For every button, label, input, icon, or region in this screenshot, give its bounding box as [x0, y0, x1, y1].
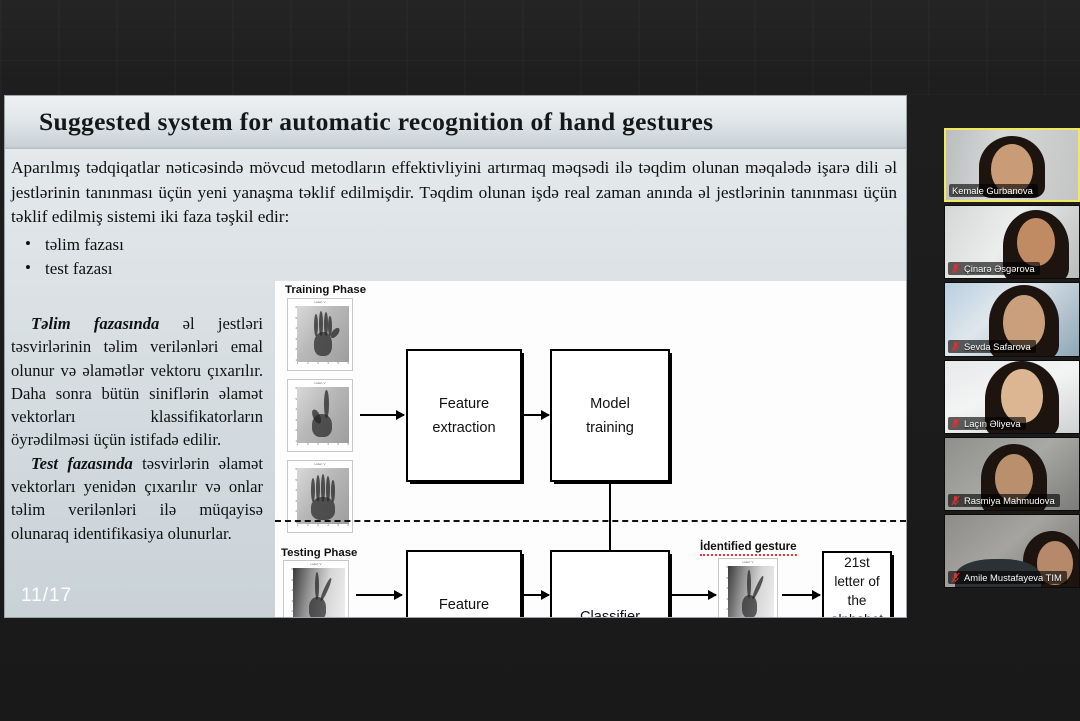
arrow-training-to-feature-extraction [360, 414, 404, 416]
paragraph-test-phase: Test fazasında təsvirlərin əlamət vektor… [11, 452, 263, 545]
video-conference-window: Suggested system for automatic recogniti… [0, 0, 1080, 721]
thumbnail-y-axis: 654321 [289, 387, 297, 443]
identified-gesture-label: İdentified gesture [700, 540, 797, 556]
paragraph-training-phase: Təlim fazasında əl jestləri təsvirlərini… [11, 312, 263, 452]
participant-name: Amile Mustafayeva TIM [964, 572, 1062, 583]
avatar-face [1001, 369, 1043, 423]
hand-image-v-sign [293, 568, 345, 617]
hand-image-v-sign-result [728, 566, 774, 617]
participant-tile-1[interactable]: Kemale Gurbanova [944, 128, 1080, 202]
participant-name-badge-3: Sevda Safarova [948, 340, 1036, 353]
box-feature-extraction-testing: Featureextraction [406, 550, 522, 617]
thumbnail-y-axis: 654321 [720, 566, 728, 617]
testing-thumbnail: Label: V 654321 123456 [283, 560, 349, 617]
training-thumbnail-1: Label: V 654321 123456 [287, 298, 353, 371]
participant-name: Rasmiya Mahmudova [964, 495, 1055, 506]
paragraph-lead-test: Test fazasında [31, 454, 133, 473]
mute-icon [951, 418, 960, 429]
participant-name: Kemale Gurbanova [952, 185, 1033, 196]
list-item: təlim fazası [19, 233, 269, 257]
avatar-face [1017, 218, 1055, 266]
box-result-letter: 21st letter of the alphabet (V) [822, 551, 892, 617]
thumbnail-y-axis: 654321 [289, 306, 297, 362]
result-line-2: letter of [834, 572, 879, 591]
participant-name-badge-2: Çinarə Əsgərova [948, 262, 1040, 275]
thumbnail-x-axis: 123456 [297, 443, 349, 451]
mute-icon [951, 572, 960, 583]
slide-title-bar: Suggested system for automatic recogniti… [5, 96, 906, 149]
box-label: Classifier [580, 605, 640, 617]
slide-intro-paragraph: Aparılmış tədqiqatlar nəticəsində mövcud… [11, 156, 897, 230]
box-label: Featureextraction [432, 392, 495, 440]
mute-icon [951, 495, 960, 506]
participant-tile-6[interactable]: Amile Mustafayeva TIM [944, 514, 1080, 588]
thumbnail-x-axis: 123456 [297, 524, 349, 532]
participant-tile-4[interactable]: Laçın Əliyeva [944, 360, 1080, 434]
result-line-3: the [848, 591, 867, 610]
participant-tile-5[interactable]: Rasmiya Mahmudova [944, 437, 1080, 511]
slide-bullet-list: təlim fazası test fazası [19, 233, 269, 281]
participant-name: Sevda Safarova [964, 341, 1031, 352]
box-label: Modeltraining [586, 392, 634, 440]
arrow-classifier-to-identified-gesture [671, 594, 716, 596]
list-item: test fazası [19, 257, 269, 281]
mute-icon [951, 341, 960, 352]
slide-page-number: 11/17 [21, 585, 72, 607]
testing-phase-label: Testing Phase [281, 547, 357, 559]
hand-image-fist-thumb [297, 387, 349, 443]
box-model-training: Modeltraining [550, 349, 670, 482]
hand-image-open-palm [297, 306, 349, 362]
participant-filmstrip[interactable]: Kemale Gurbanova Çinarə Əsgərova [944, 128, 1080, 588]
participant-name-badge-4: Laçın Əliyeva [948, 417, 1026, 430]
paragraph-body-training: əl jestləri təsvirlərinin təlim verilənl… [11, 314, 263, 449]
thumbnail-caption: Label: V [288, 300, 352, 304]
slide-title: Suggested system for automatic recogniti… [5, 107, 713, 137]
thumbnail-caption: Label: V [288, 462, 352, 466]
training-thumbnail-3: Label: V 654321 123456 [287, 460, 353, 533]
result-line-1: 21st [844, 553, 870, 572]
participant-tile-3[interactable]: Sevda Safarova [944, 282, 1080, 356]
participant-tile-2[interactable]: Çinarə Əsgərova [944, 205, 1080, 279]
box-feature-extraction-training: Featureextraction [406, 349, 522, 482]
participant-name: Laçın Əliyeva [964, 418, 1021, 429]
participant-name-badge-5: Rasmiya Mahmudova [948, 494, 1060, 507]
box-classifier: Classifier [550, 550, 670, 617]
thumbnail-caption: Label: V [284, 562, 348, 566]
phase-divider [275, 520, 906, 522]
shared-screen-slide[interactable]: Suggested system for automatic recogniti… [5, 96, 906, 617]
mute-icon [951, 263, 960, 274]
paragraph-lead-training: Təlim fazasında [31, 314, 159, 333]
training-thumbnail-2: Label: V 654321 123456 [287, 379, 353, 452]
participant-name-badge-6: Amile Mustafayeva TIM [948, 571, 1067, 584]
slide-left-text-column: Təlim fazasında əl jestləri təsvirlərini… [11, 312, 263, 545]
thumbnail-y-axis: 654321 [289, 468, 297, 524]
arrow-feature-extraction-to-classifier [523, 594, 549, 596]
thumbnail-caption: Label: V [719, 560, 777, 564]
thumbnail-caption: Label: V [288, 381, 352, 385]
arrow-testing-to-feature-extraction [356, 594, 402, 596]
thumbnail-x-axis: 123456 [297, 362, 349, 370]
participant-name: Çinarə Əsgərova [964, 263, 1035, 274]
arrow-identified-gesture-to-result [782, 594, 820, 596]
participant-name-badge-1: Kemale Gurbanova [949, 184, 1038, 197]
stage-backdrop-texture [0, 0, 1080, 95]
identified-gesture-thumbnail: Label: V 654321 123456 [718, 558, 778, 617]
system-architecture-diagram: Training Phase Testing Phase İdentified … [275, 281, 906, 617]
arrow-feature-extraction-to-model-training [523, 414, 549, 416]
training-phase-label: Training Phase [285, 284, 366, 296]
slide-body: Aparılmış tədqiqatlar nəticəsində mövcud… [5, 150, 906, 617]
hand-image-spread-fingers [297, 468, 349, 524]
result-line-4: alphabet [831, 610, 883, 618]
thumbnail-y-axis: 654321 [285, 568, 293, 617]
box-label: Featureextraction [432, 593, 495, 617]
